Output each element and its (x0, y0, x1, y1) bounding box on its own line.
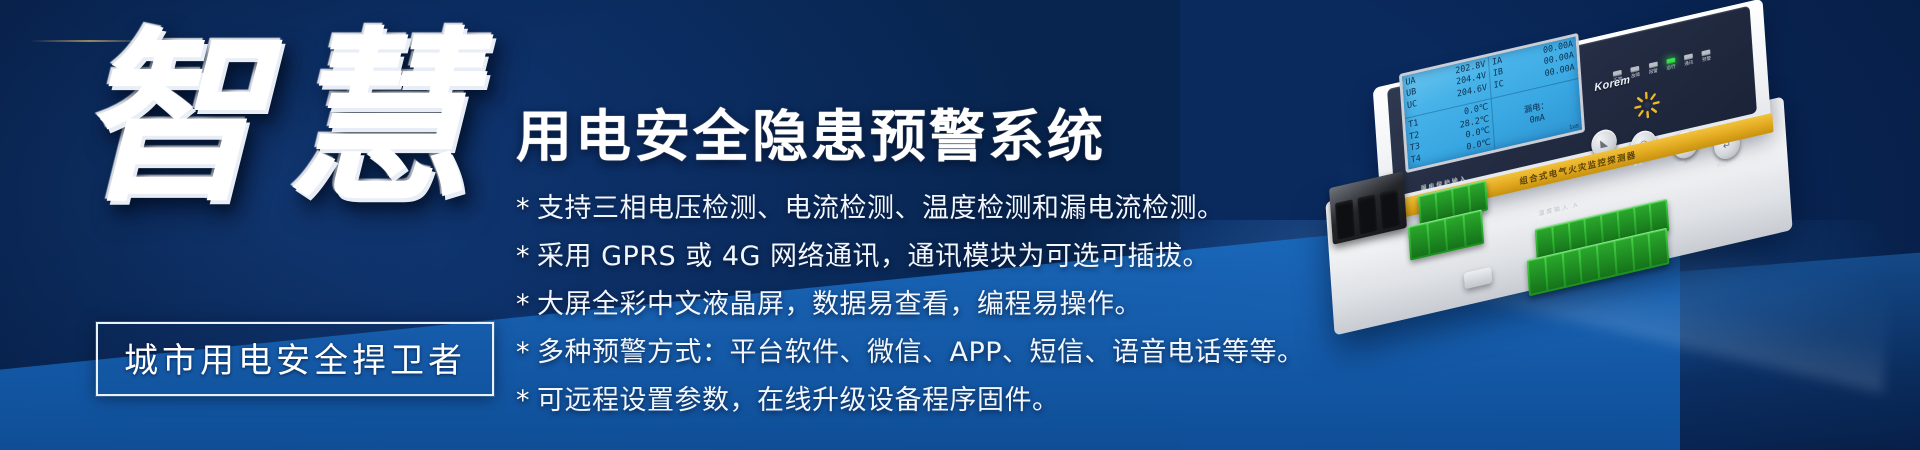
led-label: 报警 (1649, 68, 1658, 76)
led-label: 正常 (1613, 76, 1622, 84)
led-indicator: 正常 (1613, 70, 1623, 84)
led-label: 故障 (1631, 72, 1640, 80)
mute-icon: ◣ (1600, 137, 1608, 150)
led-indicator: 预警 (1701, 49, 1711, 63)
lcd-leakage-value: 0mA (1529, 113, 1545, 128)
bullet-marker-icon: * (516, 193, 530, 224)
list-item: *采用 GPRS 或 4G 网络通讯，通讯模块为可选可插拔。 (516, 234, 1305, 273)
led-indicator: 报警 (1648, 62, 1658, 76)
bullet-marker-icon: * (516, 337, 530, 368)
led-label: 运行 (1666, 64, 1675, 72)
bullet-marker-icon: * (516, 289, 530, 320)
led-indicator: 通讯 (1684, 53, 1694, 67)
list-item: *支持三相电压检测、电流检测、温度检测和漏电流检测。 (516, 186, 1305, 225)
slogan-box: 城市用电安全捍卫者 (96, 322, 494, 396)
page-title: 用电安全隐患预警系统 (516, 92, 1106, 173)
list-item-label: 采用 GPRS 或 4G 网络通讯，通讯模块为可选可插拔。 (537, 241, 1210, 272)
dip-pin (1357, 194, 1377, 234)
slogan-text: 城市用电安全捍卫者 (124, 341, 466, 381)
list-item: *大屏全彩中文液晶屏，数据易查看，编程易操作。 (516, 282, 1305, 321)
list-item-label: 多种预警方式：平台软件、微信、APP、短信、语音电话等等。 (537, 337, 1305, 368)
led-indicator: 运行 (1666, 57, 1676, 71)
lcd-ic-label: IC (1493, 79, 1504, 93)
bullet-marker-icon: * (516, 241, 530, 272)
list-item-label: 支持三相电压检测、电流检测、温度检测和漏电流检测。 (537, 193, 1225, 224)
lcd-uc-label: UC (1407, 99, 1418, 113)
device-image: UA202.8V UB204.4V UC204.6V IA00.00A IB00… (1312, 18, 1912, 418)
dip-pin (1335, 199, 1355, 239)
calligraphy-title: 智慧 (78, 26, 492, 211)
list-item: *可远程设置参数，在线升级设备程序固件。 (516, 378, 1305, 417)
bullet-marker-icon: * (516, 385, 530, 416)
list-item-label: 可远程设置参数，在线升级设备程序固件。 (537, 385, 1060, 416)
promo-banner: 智慧 城市用电安全捍卫者 用电安全隐患预警系统 *支持三相电压检测、电流检测、温… (0, 0, 1920, 450)
list-item-label: 大屏全彩中文液晶屏，数据易查看，编程易操作。 (537, 289, 1142, 320)
dip-pin (1380, 189, 1400, 229)
lcd-t4-label: T4 (1411, 153, 1422, 167)
led-label: 预警 (1702, 55, 1711, 63)
led-indicator: 故障 (1630, 66, 1640, 80)
led-label: 通讯 (1684, 59, 1693, 67)
feature-list: *支持三相电压检测、电流检测、温度检测和漏电流检测。 *采用 GPRS 或 4G… (516, 186, 1305, 417)
list-item: *多种预警方式：平台软件、微信、APP、短信、语音电话等等。 (516, 330, 1305, 369)
